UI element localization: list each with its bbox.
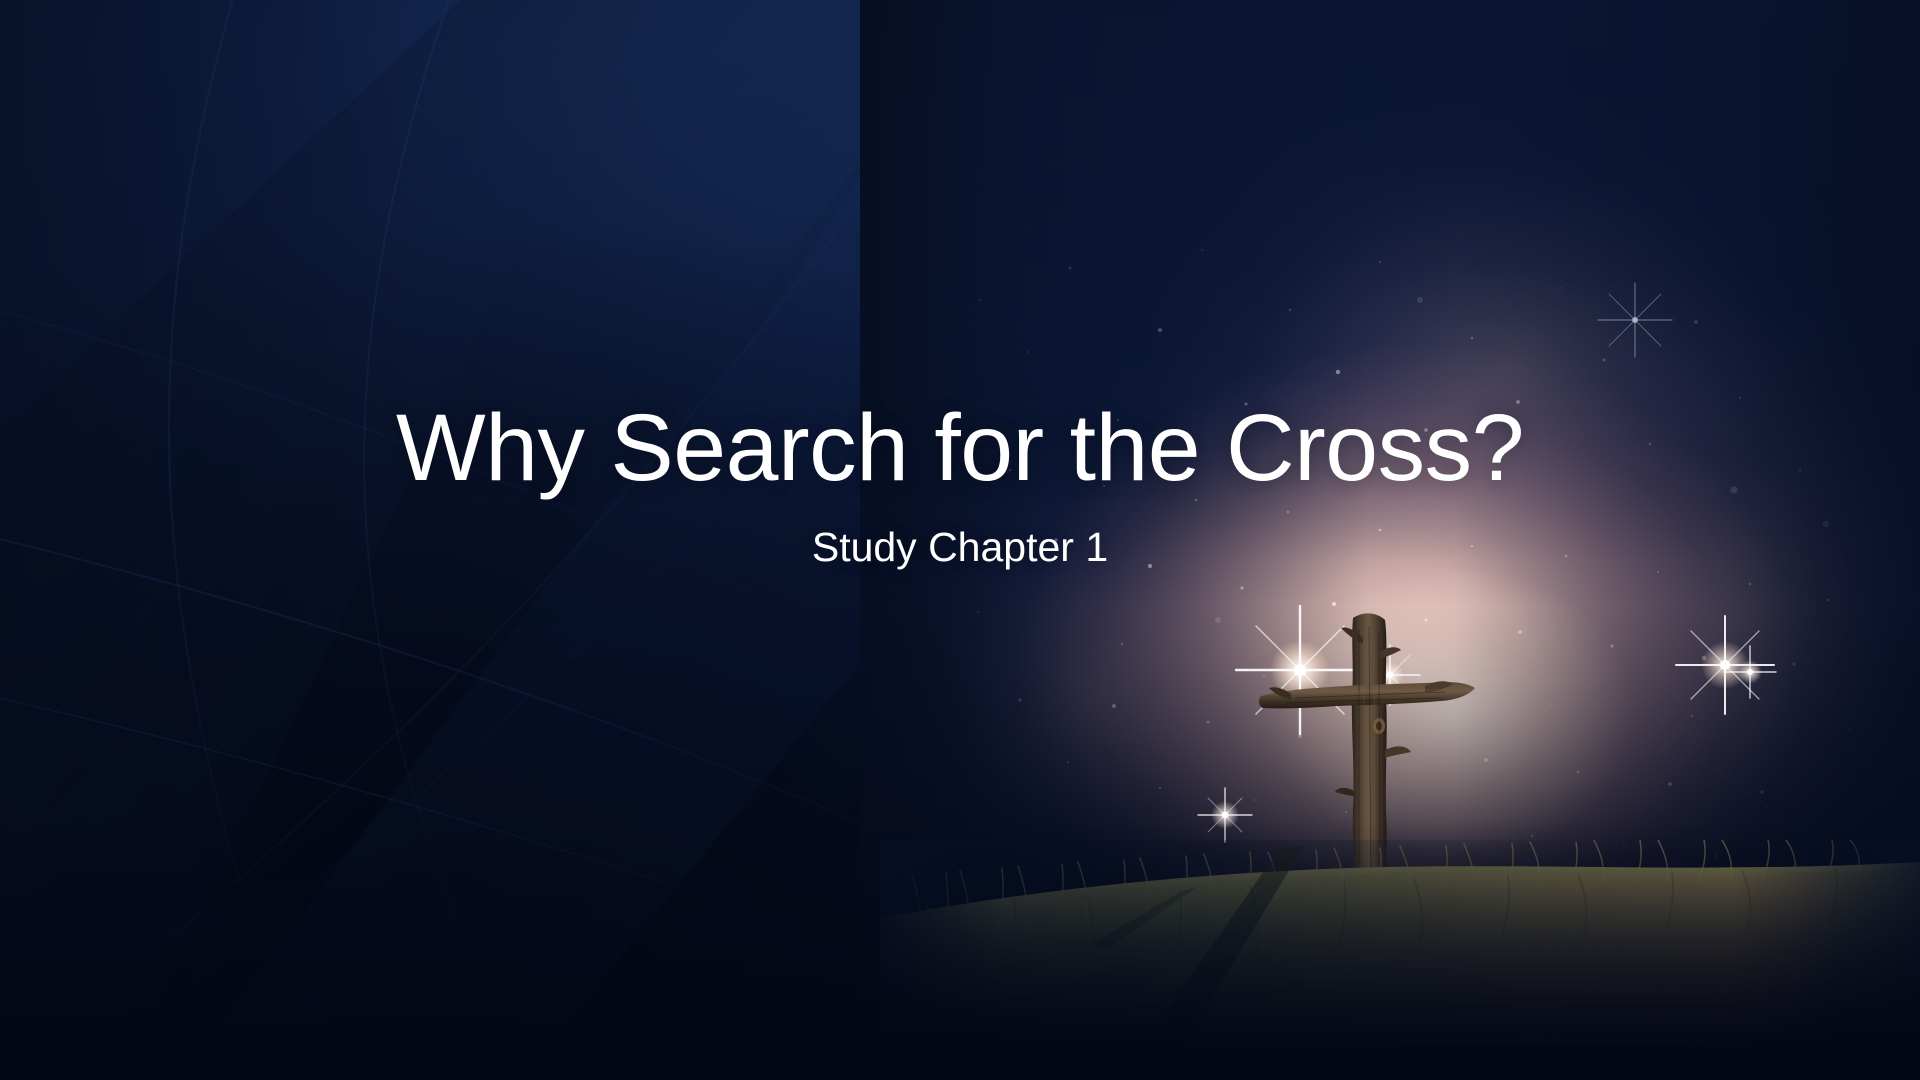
title-text-block: Why Search for the Cross? Study Chapter … [0,398,1920,572]
page-subtitle: Study Chapter 1 [0,523,1920,572]
page-title: Why Search for the Cross? [0,398,1920,499]
title-slide: Why Search for the Cross? Study Chapter … [0,0,1920,1080]
